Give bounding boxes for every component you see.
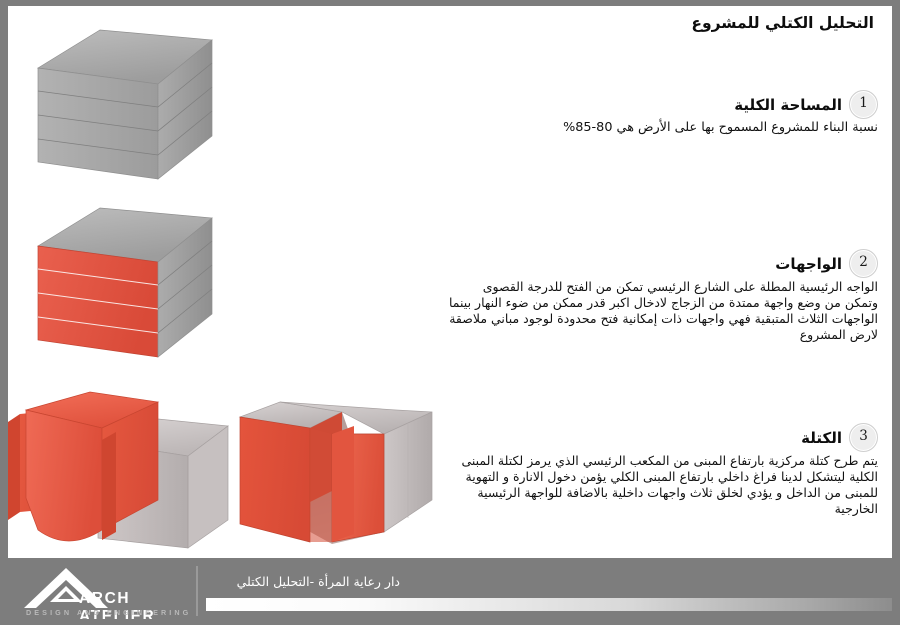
section-3-number-badge: 3	[849, 423, 878, 452]
analysis-section-mass: 3 الكتلة يتم طرح كتلة مركزية بارتفاع الم…	[448, 423, 878, 517]
massing-step-1-solid-block	[30, 24, 245, 189]
footer-gradient-bar	[206, 598, 892, 611]
company-logo: ARCH ATELIER DESIGN AND ENGINEERING	[22, 564, 207, 619]
analysis-section-facades: 2 الواجهات الواجه الرئيسية المطلة على ال…	[448, 249, 878, 343]
massing-step-3-right-courtyard-mass	[236, 382, 441, 554]
section-2-header: 2 الواجهات	[448, 249, 878, 278]
massing-step-2-red-facade-block	[30, 202, 245, 367]
section-3-body: يتم طرح كتلة مركزية بارتفاع المبنى من ال…	[448, 453, 878, 517]
massing-step-3-left-subtracted-mass	[8, 380, 238, 555]
section-3-title: الكتلة	[801, 429, 842, 447]
slide-canvas: التحليل الكتلي للمشروع	[8, 6, 892, 558]
page-title: التحليل الكتلي للمشروع	[691, 14, 874, 32]
section-2-body: الواجه الرئيسية المطلة على الشارع الرئيس…	[448, 279, 878, 343]
massing-figure-1-svg	[30, 24, 245, 189]
presentation-slide: التحليل الكتلي للمشروع	[0, 0, 900, 625]
section-1-body: نسبة البناء للمشروع المسموح بها على الأر…	[448, 120, 878, 136]
section-3-header: 3 الكتلة	[448, 423, 878, 452]
section-1-header: 1 المساحة الكلية	[448, 90, 878, 119]
section-2-number-badge: 2	[849, 249, 878, 278]
massing-figure-2-svg	[30, 202, 245, 367]
section-2-title: الواجهات	[775, 255, 842, 273]
logo-tagline: DESIGN AND ENGINEERING	[26, 608, 191, 617]
footer-divider	[196, 566, 198, 616]
analysis-section-total-area: 1 المساحة الكلية نسبة البناء للمشروع الم…	[448, 90, 878, 136]
massing-figure-3-left-svg	[8, 380, 238, 555]
footer-caption: دار رعاية المرأة -التحليل الكتلي	[237, 574, 400, 589]
section-1-title: المساحة الكلية	[734, 96, 842, 114]
section-1-number-badge: 1	[849, 90, 878, 119]
slide-footer: ARCH ATELIER DESIGN AND ENGINEERING دار …	[8, 562, 892, 619]
massing-figure-3-right-svg	[236, 382, 441, 554]
